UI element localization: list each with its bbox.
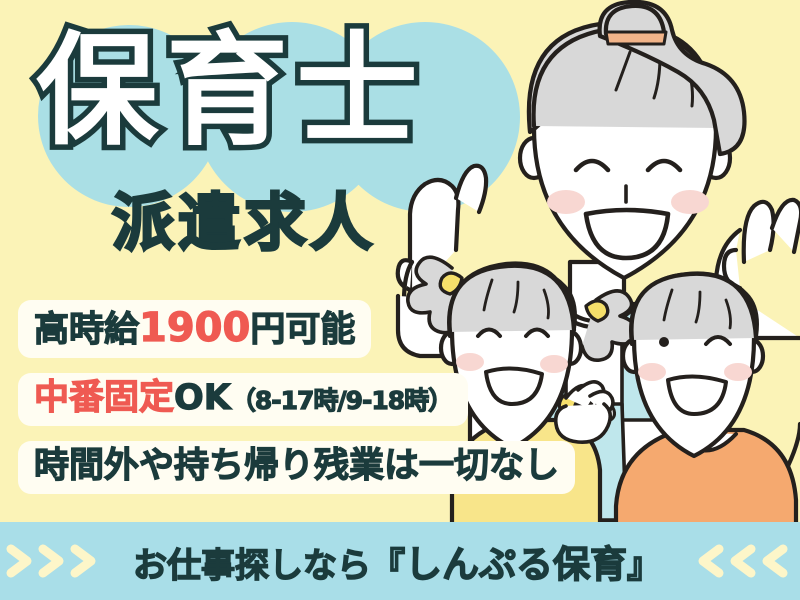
feature-row-wage: 高時給1900円可能 bbox=[18, 300, 575, 373]
poster-root: 保育士 派遣求人 高時給1900円可能 中番固定OK（8-17時/9-18時） … bbox=[0, 0, 800, 600]
chevron-left-triple-icon bbox=[687, 541, 791, 581]
feature-shift-ok: OK bbox=[174, 378, 231, 418]
feature-row-overtime: 時間外や持ち帰り残業は一切なし bbox=[18, 441, 575, 509]
banner-lead: お仕事探しなら『 bbox=[133, 546, 405, 586]
feature-list: 高時給1900円可能 中番固定OK（8-17時/9-18時） 時間外や持ち帰り残… bbox=[18, 300, 575, 509]
teacher-head bbox=[520, 2, 745, 321]
feature-wage-prefix: 高時給 bbox=[34, 310, 139, 350]
feature-pill-overtime: 時間外や持ち帰り残業は一切なし bbox=[18, 441, 575, 494]
feature-shift-hours: （8-17時/9-18時） bbox=[231, 386, 452, 415]
banner-brand: しんぷる保育 bbox=[405, 543, 627, 586]
feature-pill-wage: 高時給1900円可能 bbox=[18, 300, 371, 358]
page-subtitle: 派遣求人 bbox=[112, 192, 376, 254]
feature-wage-amount: 1900 bbox=[139, 305, 250, 351]
teacher-right-arm bbox=[716, 200, 800, 352]
banner-text: お仕事探しなら『しんぷる保育』 bbox=[133, 534, 661, 588]
banner-trail: 』 bbox=[627, 546, 661, 586]
feature-row-shift: 中番固定OK（8-17時/9-18時） bbox=[18, 373, 575, 441]
feature-wage-suffix: 円可能 bbox=[250, 310, 355, 350]
feature-overtime-text: 時間外や持ち帰り残業は一切なし bbox=[34, 446, 559, 486]
feature-shift-highlight: 中番固定 bbox=[34, 378, 174, 418]
bottom-banner: お仕事探しなら『しんぷる保育』 bbox=[0, 522, 800, 600]
feature-pill-shift: 中番固定OK（8-17時/9-18時） bbox=[18, 373, 468, 426]
page-title: 保育士 bbox=[36, 30, 426, 152]
chevron-right-triple-icon bbox=[3, 541, 107, 581]
